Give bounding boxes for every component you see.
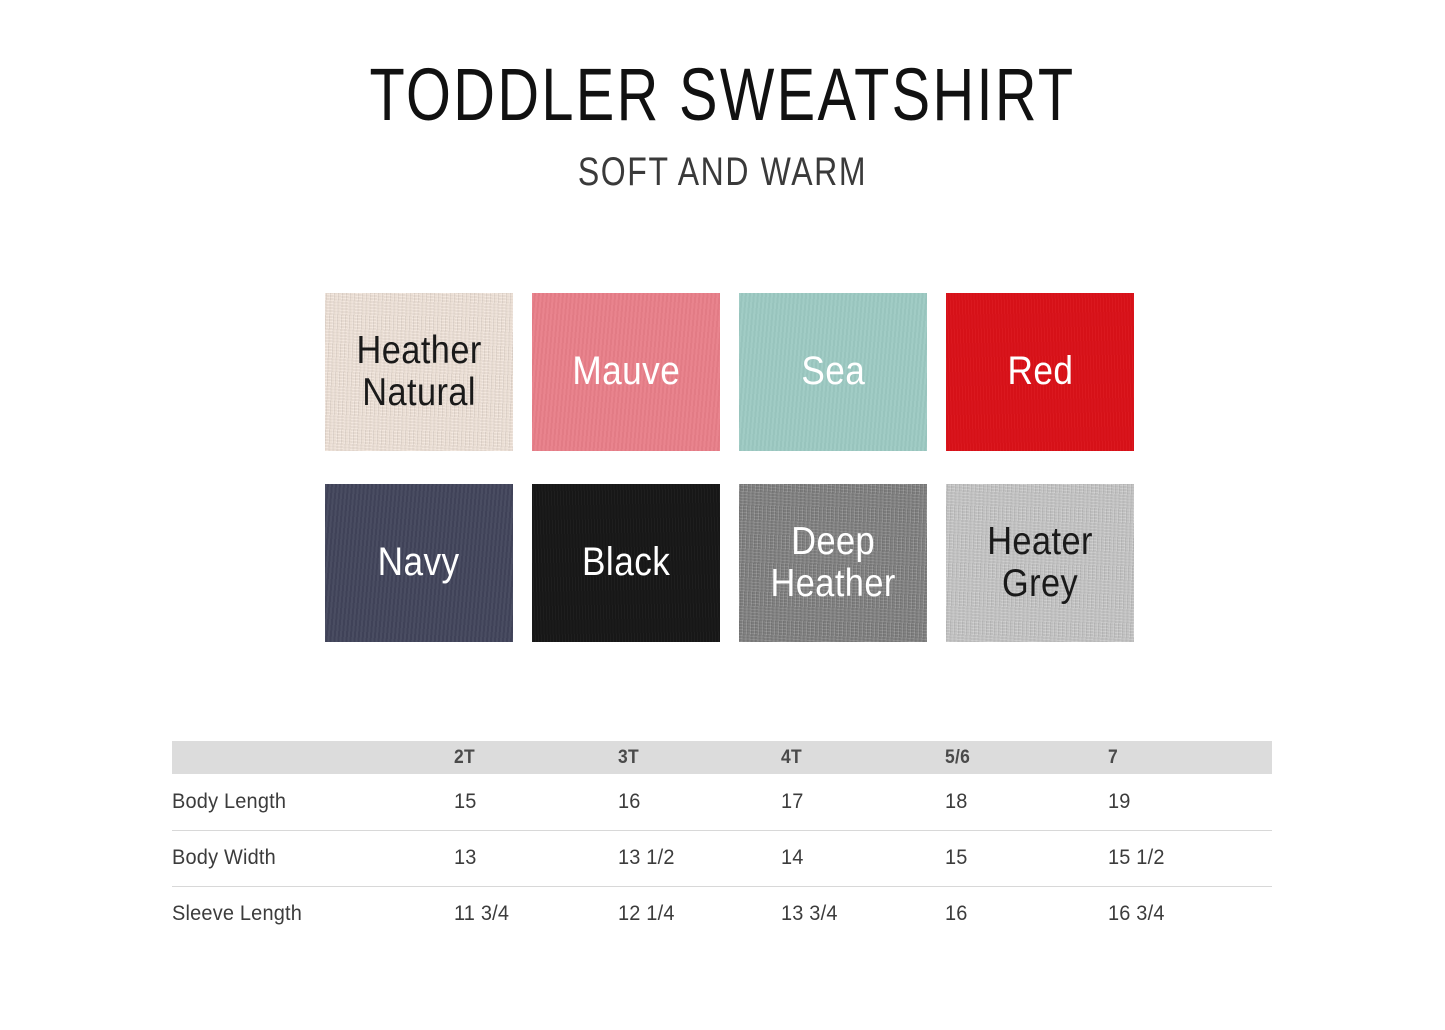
cell-body-length-5-6: 18 bbox=[945, 774, 1108, 830]
size-chart-table: 2T 3T 4T 5/6 7 Body Length 15 16 17 18 bbox=[172, 741, 1272, 942]
color-swatch-navy[interactable]: Navy bbox=[325, 484, 513, 642]
color-swatch-label: Red bbox=[1002, 350, 1078, 393]
color-swatch-black[interactable]: Black bbox=[532, 484, 720, 642]
color-swatch-label: Sea bbox=[796, 350, 871, 393]
color-swatch-label: Heater Grey bbox=[982, 521, 1098, 605]
table-header-row: 2T 3T 4T 5/6 7 bbox=[172, 741, 1272, 774]
column-header-7: 7 bbox=[1108, 741, 1259, 774]
color-swatch-grid: Heather Natural Mauve Sea Red Navy Black… bbox=[325, 293, 1135, 642]
cell-text: 15 bbox=[454, 790, 477, 814]
size-chart-header: 2T 3T 4T 5/6 7 bbox=[172, 741, 1272, 774]
cell-text: Body Width bbox=[172, 846, 276, 870]
color-swatch-label: Deep Heather bbox=[765, 521, 901, 605]
size-chart-body: Body Length 15 16 17 18 19 Body Width bbox=[172, 774, 1272, 942]
color-swatch-label: Navy bbox=[373, 541, 466, 584]
table-row: Body Length 15 16 17 18 19 bbox=[172, 774, 1272, 830]
page-header: TODDLER SWEATSHIRT SOFT AND WARM bbox=[0, 0, 1445, 195]
row-label-body-length: Body Length bbox=[172, 774, 454, 830]
cell-text: 17 bbox=[781, 790, 804, 814]
cell-text: 13 1/2 bbox=[618, 846, 675, 870]
cell-body-length-3t: 16 bbox=[618, 774, 782, 830]
cell-text: 11 3/4 bbox=[454, 902, 509, 926]
column-header-3t: 3T bbox=[618, 741, 769, 774]
color-swatch-heather-natural[interactable]: Heather Natural bbox=[325, 293, 513, 451]
cell-text: 13 3/4 bbox=[781, 902, 838, 926]
cell-body-width-7: 15 1/2 bbox=[1108, 830, 1272, 886]
color-swatch-heater-grey[interactable]: Heater Grey bbox=[946, 484, 1134, 642]
cell-text: 16 3/4 bbox=[1108, 902, 1165, 926]
cell-text: 18 bbox=[945, 790, 968, 814]
cell-body-width-3t: 13 1/2 bbox=[618, 830, 782, 886]
cell-text: 14 bbox=[781, 846, 804, 870]
row-label-sleeve-length: Sleeve Length bbox=[172, 886, 454, 942]
cell-text: 15 bbox=[945, 846, 968, 870]
page-subtitle: SOFT AND WARM bbox=[145, 150, 1301, 195]
table-row: Sleeve Length 11 3/4 12 1/4 13 3/4 16 16… bbox=[172, 886, 1272, 942]
color-swatch-label: Heather Natural bbox=[351, 330, 487, 414]
cell-text: 12 1/4 bbox=[618, 902, 675, 926]
color-swatch-label: Black bbox=[577, 541, 676, 584]
cell-body-length-7: 19 bbox=[1108, 774, 1272, 830]
table-row: Body Width 13 13 1/2 14 15 15 1/2 bbox=[172, 830, 1272, 886]
color-swatch-red[interactable]: Red bbox=[946, 293, 1134, 451]
color-swatch-deep-heather[interactable]: Deep Heather bbox=[739, 484, 927, 642]
column-header-5-6: 5/6 bbox=[945, 741, 1095, 774]
row-label-body-width: Body Width bbox=[172, 830, 454, 886]
cell-body-length-2t: 15 bbox=[454, 774, 618, 830]
cell-body-width-4t: 14 bbox=[781, 830, 945, 886]
cell-sleeve-length-5-6: 16 bbox=[945, 886, 1108, 942]
cell-body-length-4t: 17 bbox=[781, 774, 945, 830]
cell-sleeve-length-2t: 11 3/4 bbox=[454, 886, 618, 942]
cell-text: Sleeve Length bbox=[172, 902, 302, 926]
column-header-2t: 2T bbox=[454, 741, 605, 774]
cell-text: 13 bbox=[454, 846, 477, 870]
cell-body-width-5-6: 15 bbox=[945, 830, 1108, 886]
cell-text: 16 bbox=[945, 902, 968, 926]
cell-body-width-2t: 13 bbox=[454, 830, 618, 886]
column-header-measurement bbox=[172, 741, 431, 774]
cell-text: 16 bbox=[618, 790, 641, 814]
cell-sleeve-length-4t: 13 3/4 bbox=[781, 886, 945, 942]
page-title: TODDLER SWEATSHIRT bbox=[159, 58, 1286, 132]
cell-text: 15 1/2 bbox=[1108, 846, 1165, 870]
column-header-4t: 4T bbox=[781, 741, 932, 774]
cell-sleeve-length-3t: 12 1/4 bbox=[618, 886, 782, 942]
color-swatch-mauve[interactable]: Mauve bbox=[532, 293, 720, 451]
color-swatch-label: Mauve bbox=[567, 350, 685, 393]
cell-text: 19 bbox=[1108, 790, 1131, 814]
cell-text: Body Length bbox=[172, 790, 286, 814]
color-swatch-sea[interactable]: Sea bbox=[739, 293, 927, 451]
cell-sleeve-length-7: 16 3/4 bbox=[1108, 886, 1272, 942]
